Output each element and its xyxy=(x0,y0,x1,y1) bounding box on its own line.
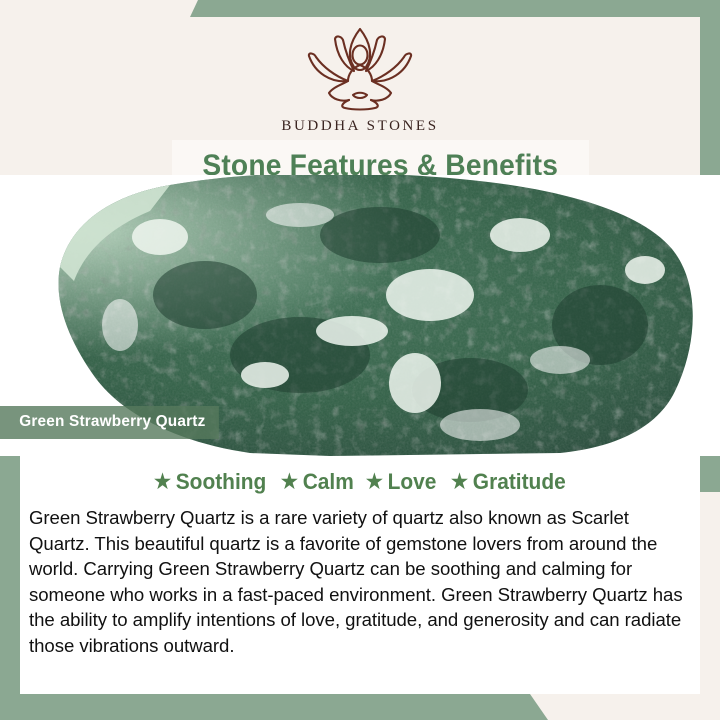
infographic-poster: BUDDHA STONES Stone Features & Benefits xyxy=(0,0,720,720)
frame-accent-bottom xyxy=(0,694,548,720)
header: BUDDHA STONES Stone Features & Benefits xyxy=(20,17,700,175)
benefit-label: Calm xyxy=(302,469,353,495)
benefit-label: Soothing xyxy=(176,469,267,495)
benefit-gratitude: ★ Gratitude xyxy=(451,469,566,495)
content-card: ★ Soothing ★ Calm ★ Love ★ Gratitude Gre… xyxy=(20,456,700,694)
brand-name: BUDDHA STONES xyxy=(281,118,438,135)
benefit-label: Gratitude xyxy=(473,469,566,495)
benefits-row: ★ Soothing ★ Calm ★ Love ★ Gratitude xyxy=(20,456,700,495)
benefit-calm: ★ Calm xyxy=(281,469,354,495)
benefit-soothing: ★ Soothing xyxy=(154,469,266,495)
description-text: Green Strawberry Quartz is a rare variet… xyxy=(29,505,688,658)
star-icon: ★ xyxy=(366,472,383,492)
star-icon: ★ xyxy=(281,472,298,492)
star-icon: ★ xyxy=(451,472,468,492)
lotus-meditation-icon xyxy=(285,23,435,116)
photo-caption: Green Strawberry Quartz xyxy=(0,406,219,439)
star-icon: ★ xyxy=(154,472,171,492)
benefit-label: Love xyxy=(388,469,437,495)
brand-logo: BUDDHA STONES xyxy=(20,23,700,135)
benefit-love: ★ Love xyxy=(366,469,437,495)
stone-photo: Green Strawberry Quartz xyxy=(0,175,720,456)
frame-accent-top xyxy=(190,0,720,17)
